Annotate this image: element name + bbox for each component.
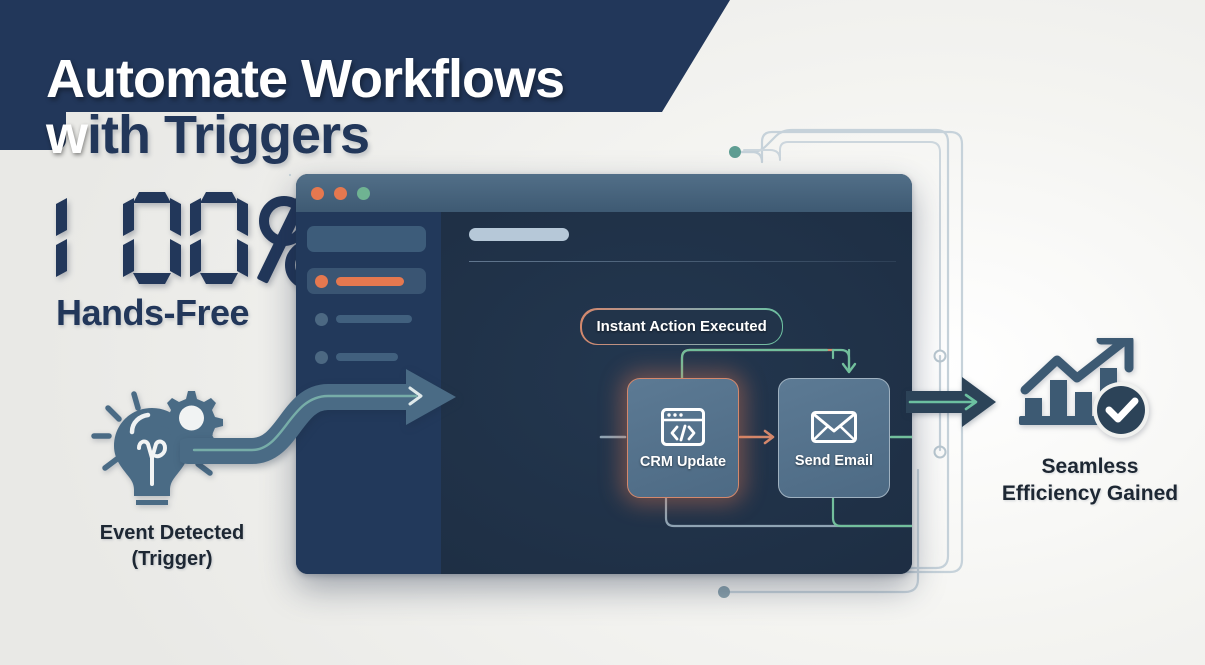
result-block: Seamless Efficiency Gained bbox=[985, 338, 1195, 508]
result-caption-line1: Seamless bbox=[985, 454, 1195, 481]
window-titlebar bbox=[296, 174, 912, 212]
status-badge-label: Instant Action Executed bbox=[596, 318, 766, 335]
window-main-panel: Instant Action Executed CRM Update bbox=[441, 212, 912, 574]
sidebar-item-icon-2 bbox=[315, 313, 328, 326]
status-badge: Instant Action Executed bbox=[580, 308, 783, 345]
stat-block: Hands-Free bbox=[56, 192, 329, 334]
infographic-canvas: Automate Workflows with Triggers Hands-F… bbox=[0, 0, 1205, 665]
sidebar-item-label-2 bbox=[336, 315, 412, 323]
lcd-value-100-percent bbox=[56, 192, 329, 284]
workflow-card-label-crm-update: CRM Update bbox=[640, 454, 726, 470]
sidebar-item-icon-active bbox=[315, 275, 328, 288]
workflow-card-send-email[interactable]: Send Email bbox=[778, 378, 890, 498]
trigger-caption: Event Detected (Trigger) bbox=[72, 521, 272, 572]
bulb-base bbox=[134, 490, 170, 505]
sidebar-item-2[interactable] bbox=[307, 306, 426, 332]
workflow-card-crm-update[interactable]: CRM Update bbox=[627, 378, 739, 498]
result-caption: Seamless Efficiency Gained bbox=[985, 454, 1195, 508]
lcd-digit-0-a bbox=[123, 192, 181, 284]
sidebar-item-label-active bbox=[336, 277, 404, 286]
workflow-card-label-send-email: Send Email bbox=[795, 453, 873, 469]
sidebar-header-placeholder bbox=[307, 226, 426, 252]
code-window-icon bbox=[660, 407, 706, 447]
close-dot[interactable] bbox=[311, 187, 324, 200]
minimize-dot[interactable] bbox=[334, 187, 347, 200]
stat-label: Hands-Free bbox=[56, 292, 329, 334]
trigger-caption-line1: Event Detected bbox=[72, 521, 272, 547]
result-arrow-icon bbox=[906, 373, 998, 431]
page-title-line2-lead: w bbox=[46, 105, 87, 165]
lcd-digit-1 bbox=[56, 192, 114, 284]
trigger-caption-line2: (Trigger) bbox=[72, 547, 272, 573]
maximize-dot[interactable] bbox=[357, 187, 370, 200]
page-title-line1: Automate Workflows bbox=[46, 48, 564, 110]
trace-node-top bbox=[729, 146, 741, 158]
page-title-line2-rest: ith Triggers bbox=[87, 105, 369, 165]
page-title-line2: with Triggers bbox=[46, 104, 369, 166]
growth-chart-check-icon bbox=[1005, 338, 1175, 448]
envelope-icon bbox=[810, 408, 858, 446]
lcd-digit-0-b bbox=[190, 192, 248, 284]
curved-flow-arrow-icon bbox=[180, 355, 490, 485]
sidebar-item-active[interactable] bbox=[307, 268, 426, 294]
trace-node-bottom bbox=[718, 586, 730, 598]
result-caption-line2: Efficiency Gained bbox=[985, 481, 1195, 508]
